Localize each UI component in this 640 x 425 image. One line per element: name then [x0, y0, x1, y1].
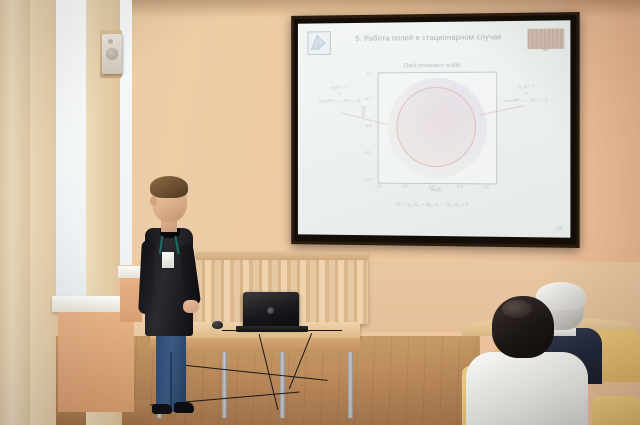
- speaker-cone: [106, 48, 118, 60]
- wall-pillar: [0, 0, 30, 425]
- audience-member-front-hair: [502, 300, 532, 318]
- wall-pillar: [30, 0, 56, 425]
- cable: [222, 330, 342, 331]
- x-tick-label: 1.0: [484, 184, 490, 189]
- presenter-shoe: [174, 402, 194, 413]
- annotation-right: ω₂/β = 1 0 max|Ψ⁽¹⁾₊₁₋₁ Ψ⁽²⁾₋₁₊₁|²: [487, 83, 566, 104]
- y-tick-label: 0.5: [366, 96, 371, 101]
- wall-speaker-icon: [102, 34, 122, 74]
- audience-member-front-body: [466, 352, 588, 425]
- y-tick-label: 1.0: [366, 70, 371, 75]
- x-tick-label: -0.5: [401, 184, 408, 189]
- x-tick-label: 0.0: [429, 184, 434, 189]
- y-tick-label: -1.0: [364, 177, 371, 182]
- x-axis-label: Re[β]: [378, 188, 495, 194]
- annotation-right-line1: ω₂/β = 1: [487, 83, 566, 90]
- table-leg: [280, 352, 285, 418]
- projection-screen: 5. Работа полей в стационарном случае NS…: [291, 12, 579, 248]
- slide-number: 19: [557, 226, 563, 232]
- y-tick-label: 0.0: [366, 123, 371, 128]
- leader-line-left: [341, 112, 387, 124]
- annotation-left-line3: max|Ψ⁽¹⁾₋₁₊₁ Ψ⁽²⁾₊₁₋₁|²: [302, 98, 378, 105]
- presenter-ear: [150, 196, 157, 206]
- presenter-leg-seam: [170, 352, 172, 412]
- annotation-left-line1: ω₂/β = −1: [302, 84, 378, 91]
- geometry-logo-icon: [308, 31, 331, 55]
- window-bay: [0, 0, 132, 425]
- annotation-left-line2: 0: [302, 91, 378, 98]
- table-leg: [222, 352, 227, 418]
- unit-disk-region: [387, 78, 487, 179]
- presenter-hair: [150, 176, 188, 198]
- y-tick-label: -0.5: [364, 150, 371, 155]
- presenter-shoe: [152, 404, 172, 414]
- slide-equation: Ω₁ = γ₃, Ω₂ = 4γ₃, γ₂ = 2γ₃, Δ₂ = 0: [298, 201, 571, 209]
- inner-contour-circle: [396, 87, 476, 167]
- audience-chair: [592, 396, 640, 425]
- slide-surface: 5. Работа полей в стационарном случае NS…: [298, 20, 571, 237]
- window-glass: [56, 0, 86, 300]
- annotation-right-line2: 0: [487, 90, 566, 97]
- chart-title: Dark resonance width: [298, 61, 571, 70]
- presenter-hand: [183, 300, 199, 313]
- presentation-photo-scene: 5. Работа полей в стационарном случае NS…: [0, 0, 640, 425]
- y-axis-label: Im[β]: [362, 106, 367, 117]
- slide-title: 5. Работа полей в стационарном случае: [341, 32, 518, 43]
- x-tick-label: 0.5: [457, 184, 463, 189]
- x-tick-label: -1.0: [375, 184, 382, 189]
- plot-area: [378, 72, 497, 185]
- table-leg: [348, 352, 353, 418]
- curtain-rail: [196, 252, 368, 260]
- institute-logo-caption: NSU: [528, 48, 565, 52]
- leader-line-right: [479, 105, 525, 116]
- laptop-screen: [243, 292, 299, 328]
- computer-mouse: [212, 321, 223, 329]
- radiator: [58, 312, 134, 412]
- annotation-left: ω₂/β = −1 0 max|Ψ⁽¹⁾₋₁₊₁ Ψ⁽²⁾₊₁₋₁|²: [302, 84, 378, 105]
- annotation-right-line3: max|Ψ⁽¹⁾₊₁₋₁ Ψ⁽²⁾₋₁₊₁|²: [487, 97, 566, 104]
- presenter-name-badge: [162, 252, 174, 268]
- institute-logo-icon: [528, 28, 565, 49]
- speaker-tweeter: [108, 39, 113, 44]
- slide-content: 5. Работа полей в стационарном случае NS…: [298, 20, 571, 237]
- laptop-logo-icon: [267, 307, 274, 314]
